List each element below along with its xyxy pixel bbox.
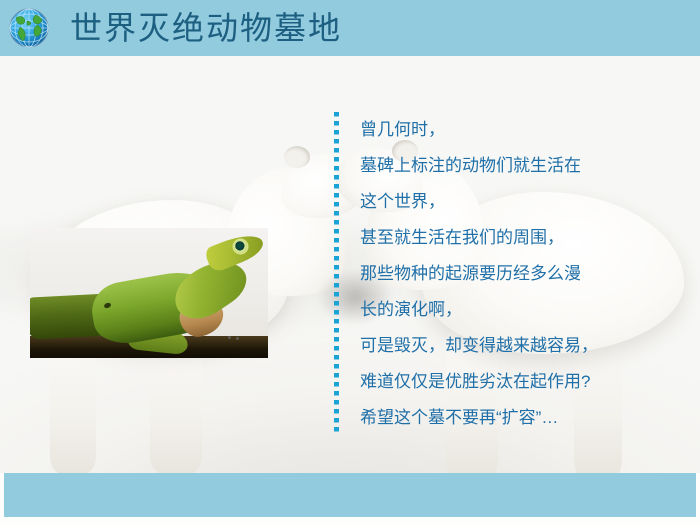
body-text-line: 长的演化啊，: [360, 292, 690, 328]
green-anole-lizard-photo: [30, 228, 268, 358]
bear-left-ear: [284, 146, 310, 168]
globe-icon: [8, 7, 50, 49]
body-text-block: 曾几何时， 墓碑上标注的动物们就生活在 这个世界， 甚至就生活在我们的周围， 那…: [360, 112, 690, 436]
body-text-line: 可是毁灭，却变得越来越容易，: [360, 328, 690, 364]
body-text-line: 甚至就生活在我们的周围，: [360, 220, 690, 256]
header-bar: 世界灭绝动物墓地: [0, 0, 700, 56]
page-title: 世界灭绝动物墓地: [70, 12, 342, 44]
footer-bar: [4, 473, 696, 517]
body-text-line: 曾几何时，: [360, 112, 690, 148]
body-text-line: 希望这个墓不要再“扩容”…: [360, 400, 690, 436]
dotted-divider: [334, 112, 339, 434]
body-text-line: 墓碑上标注的动物们就生活在: [360, 148, 690, 184]
body-text-line: 那些物种的起源要历经多么漫: [360, 256, 690, 292]
body-text-line: 难道仅仅是优胜劣汰在起作用?: [360, 364, 690, 400]
lizard-eye: [234, 240, 247, 253]
slide: 世界灭绝动物墓地 曾几何时， 墓碑上标注的动物们就生活在 这个世界， 甚至就生活…: [0, 0, 700, 525]
lizard-toes: [228, 336, 244, 342]
body-text-line: 这个世界，: [360, 184, 690, 220]
